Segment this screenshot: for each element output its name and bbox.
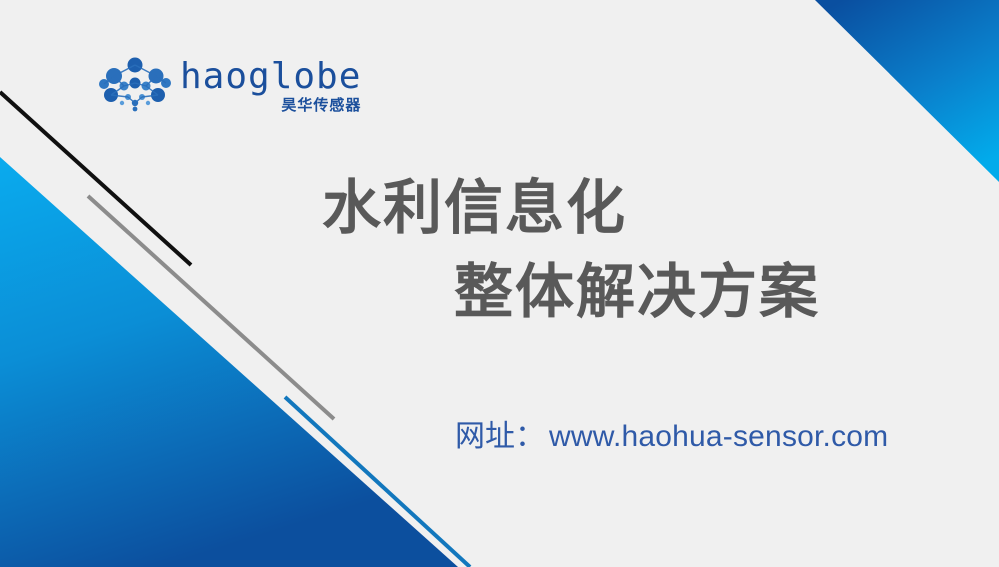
presentation-slide: haoglobe 昊华传感器 水利信息化 整体解决方案 网址： www.haoh… xyxy=(0,0,999,567)
website-url[interactable]: www.haohua-sensor.com xyxy=(549,418,888,456)
slide-title: 水利信息化 整体解决方案 xyxy=(322,166,922,334)
slide-title-line-1: 水利信息化 xyxy=(322,166,922,250)
molecule-network-icon xyxy=(98,57,172,113)
logo-wordmark: haoglobe xyxy=(180,59,361,95)
brand-logo: haoglobe 昊华传感器 xyxy=(98,57,361,114)
logo-text-group: haoglobe 昊华传感器 xyxy=(180,57,361,114)
website-line: 网址： www.haohua-sensor.com xyxy=(455,418,888,456)
slide-title-line-2: 整体解决方案 xyxy=(322,250,922,334)
website-label: 网址： xyxy=(455,418,545,456)
logo-subtitle: 昊华传感器 xyxy=(281,97,361,114)
